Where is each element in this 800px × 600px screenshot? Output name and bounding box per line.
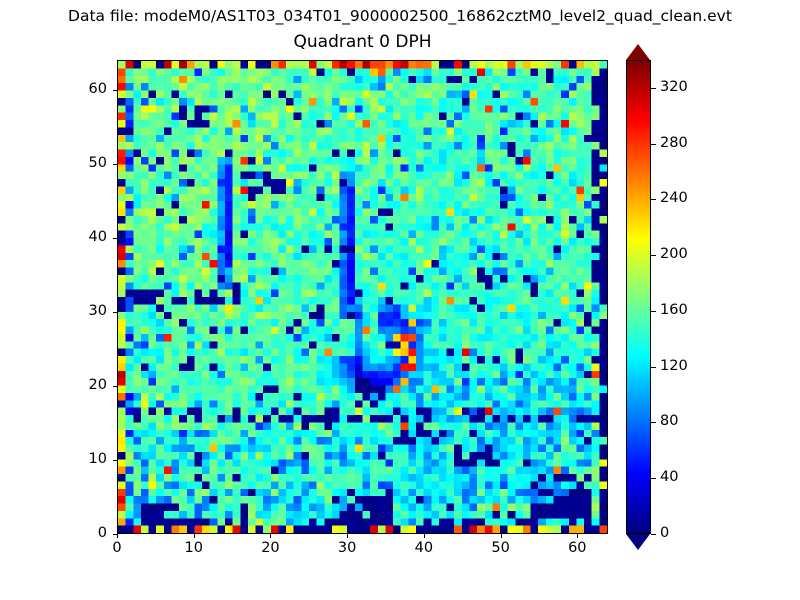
colorbar-tick-label: 280: [660, 135, 688, 151]
colorbar-tick-mark: [651, 367, 656, 368]
colorbar-tick-label: 240: [660, 190, 688, 206]
x-tick-mark: [270, 534, 271, 538]
colorbar-under-arrow: [626, 534, 650, 550]
x-tick-mark: [347, 534, 348, 538]
x-tick-label: 30: [317, 540, 377, 556]
y-tick-mark: [113, 90, 117, 91]
x-tick-mark: [577, 534, 578, 538]
colorbar-tick-mark: [651, 478, 656, 479]
y-tick-label: 20: [47, 377, 107, 393]
colorbar-over-arrow: [626, 44, 650, 60]
colorbar-tick-label: 0: [660, 525, 669, 541]
x-tick-mark: [194, 534, 195, 538]
heatmap-axes: [117, 60, 608, 534]
colorbar-tick-label: 40: [660, 469, 678, 485]
x-tick-mark: [424, 534, 425, 538]
colorbar-tick-label: 80: [660, 413, 678, 429]
x-tick-label: 10: [164, 540, 224, 556]
y-tick-mark: [113, 164, 117, 165]
colorbar-gradient: [627, 61, 650, 533]
y-tick-mark: [113, 386, 117, 387]
y-tick-mark: [113, 534, 117, 535]
x-tick-label: 40: [394, 540, 454, 556]
x-tick-label: 20: [240, 540, 300, 556]
colorbar-tick-label: 320: [660, 79, 688, 95]
y-tick-label: 30: [47, 303, 107, 319]
y-tick-mark: [113, 312, 117, 313]
x-tick-mark: [501, 534, 502, 538]
colorbar-tick-mark: [651, 534, 656, 535]
y-tick-label: 50: [47, 155, 107, 171]
figure-suptitle: Data file: modeM0/AS1T03_034T01_90000025…: [0, 7, 800, 25]
x-tick-label: 60: [547, 540, 607, 556]
figure-canvas: Data file: modeM0/AS1T03_034T01_90000025…: [0, 0, 800, 600]
colorbar-tick-label: 200: [660, 246, 688, 262]
y-tick-mark: [113, 460, 117, 461]
colorbar: 04080120160200240280320: [626, 60, 651, 534]
colorbar-tick-label: 120: [660, 358, 688, 374]
y-tick-label: 40: [47, 229, 107, 245]
heatmap-image: [118, 61, 607, 533]
y-tick-label: 10: [47, 451, 107, 467]
x-tick-mark: [117, 534, 118, 538]
colorbar-body: [626, 60, 651, 534]
y-tick-mark: [113, 238, 117, 239]
colorbar-tick-mark: [651, 422, 656, 423]
y-tick-label: 60: [47, 81, 107, 97]
colorbar-tick-mark: [651, 255, 656, 256]
colorbar-tick-mark: [651, 144, 656, 145]
x-tick-label: 50: [471, 540, 531, 556]
colorbar-tick-mark: [651, 88, 656, 89]
x-tick-label: 0: [87, 540, 147, 556]
colorbar-tick-mark: [651, 199, 656, 200]
colorbar-tick-label: 160: [660, 302, 688, 318]
axes-title: Quadrant 0 DPH: [117, 32, 608, 52]
colorbar-tick-mark: [651, 311, 656, 312]
y-tick-label: 0: [47, 525, 107, 541]
